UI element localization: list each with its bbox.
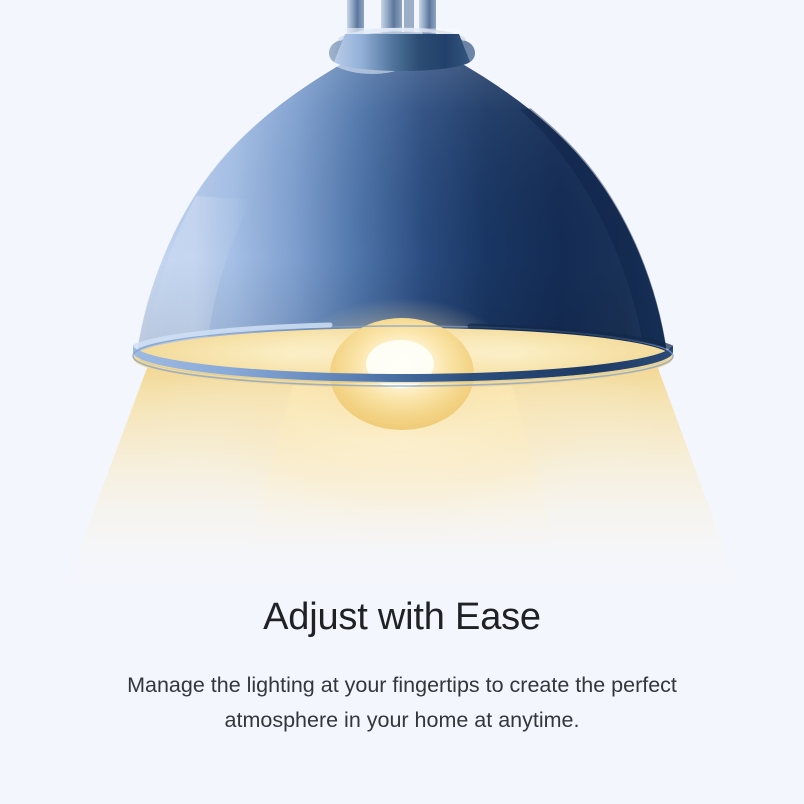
caption-block: Adjust with Ease Manage the lighting at … (0, 595, 804, 737)
page-description-line-1: Manage the lighting at your fingertips t… (127, 673, 605, 697)
page-description: Manage the lighting at your fingertips t… (102, 668, 702, 738)
mount-bar-gap-shadow (404, 0, 414, 32)
lamp-svg (0, 0, 804, 600)
promo-card: Adjust with Ease Manage the lighting at … (0, 0, 804, 804)
lamp-neck (334, 34, 470, 71)
page-title: Adjust with Ease (0, 595, 804, 640)
pendant-lamp-illustration (0, 0, 804, 600)
